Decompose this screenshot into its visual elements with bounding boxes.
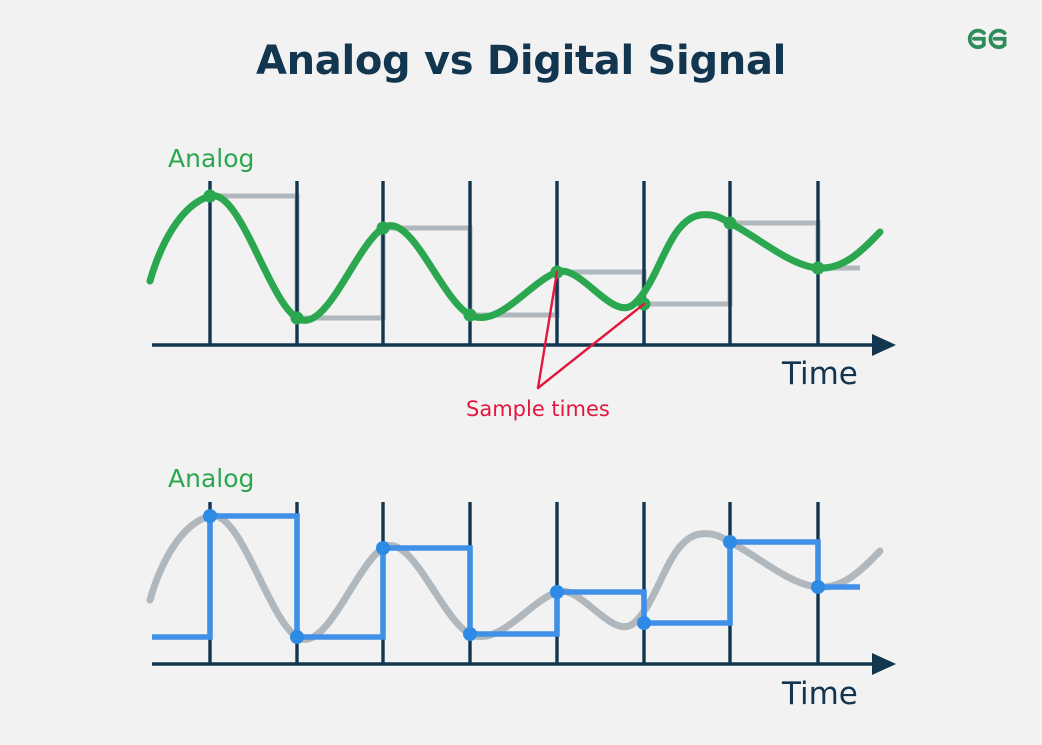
top-chart-time-label: Time	[781, 356, 858, 392]
top-chart-time-axis	[152, 334, 896, 356]
bottom-chart-time-axis	[152, 653, 896, 675]
top-chart-analog-wave	[150, 196, 880, 321]
top-chart: Analog Time Sample times	[150, 144, 896, 421]
bottom-chart-analog-label: Analog	[168, 464, 254, 493]
top-chart-analog-label: Analog	[168, 144, 254, 173]
page-root: Analog vs Digital Signal	[0, 0, 1042, 745]
bottom-chart-time-label: Time	[781, 676, 858, 712]
signal-figure: Analog Time Sample times	[0, 0, 1042, 745]
top-chart-axis-arrow-icon	[872, 334, 896, 356]
bottom-chart-axis-arrow-icon	[872, 653, 896, 675]
sample-times-label: Sample times	[466, 397, 610, 421]
bottom-chart-analog-wave	[150, 516, 880, 640]
top-chart-step-trace	[210, 196, 860, 318]
bottom-chart: Analog Time	[150, 464, 896, 712]
